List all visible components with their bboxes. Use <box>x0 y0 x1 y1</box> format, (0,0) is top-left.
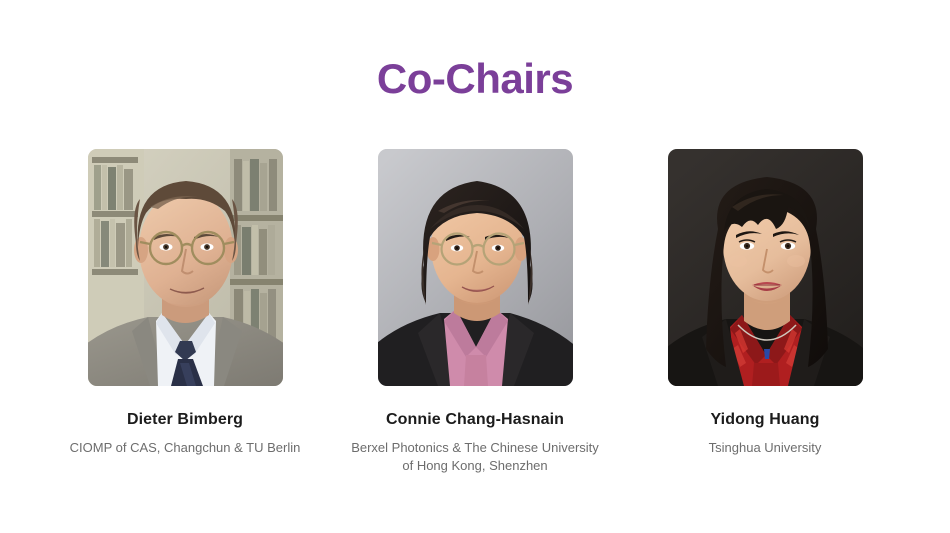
person-affiliation: CIOMP of CAS, Changchun & TU Berlin <box>70 439 301 457</box>
portrait-dieter-bimberg-image <box>88 149 283 386</box>
person-affiliation: Tsinghua University <box>709 439 822 457</box>
portrait-yidong-huang-image <box>668 149 863 386</box>
person-name: Yidong Huang <box>710 410 819 429</box>
portrait-connie-chang-hasnain-image <box>378 149 573 386</box>
person-card[interactable]: Dieter Bimberg CIOMP of CAS, Changchun &… <box>40 149 330 457</box>
avatar[interactable] <box>378 149 573 386</box>
person-name: Connie Chang-Hasnain <box>386 410 564 429</box>
person-name: Dieter Bimberg <box>127 410 243 429</box>
person-card[interactable]: Yidong Huang Tsinghua University <box>620 149 910 457</box>
page-title: Co-Chairs <box>0 58 950 100</box>
co-chairs-list: Dieter Bimberg CIOMP of CAS, Changchun &… <box>0 149 950 474</box>
co-chairs-page: Co-Chairs <box>0 0 950 533</box>
avatar[interactable] <box>668 149 863 386</box>
person-affiliation: Berxel Photonics & The Chinese Universit… <box>351 439 599 474</box>
avatar[interactable] <box>88 149 283 386</box>
person-card[interactable]: Connie Chang-Hasnain Berxel Photonics & … <box>330 149 620 474</box>
